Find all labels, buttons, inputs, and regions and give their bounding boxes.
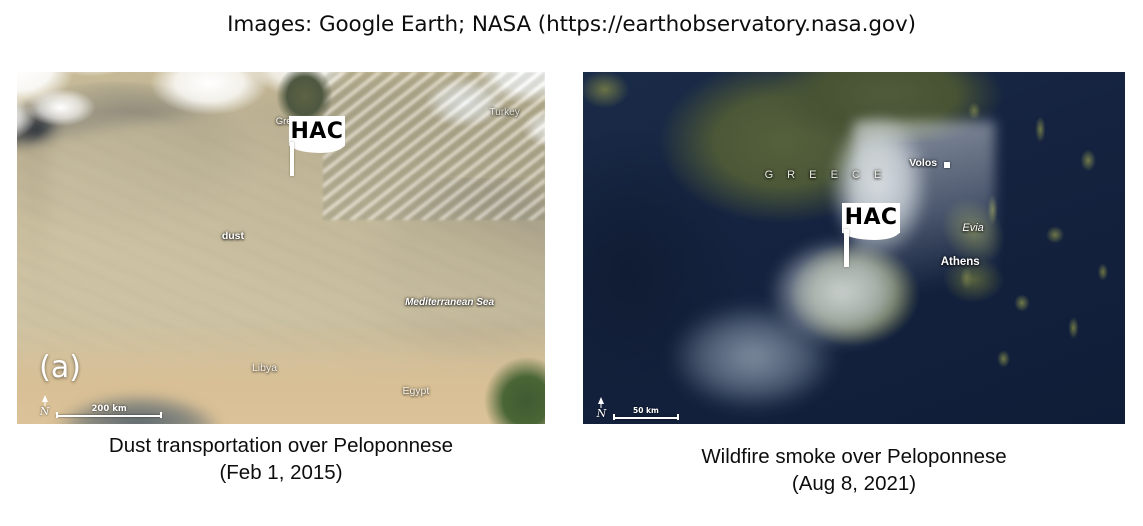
caption-dust-line1: Dust transportation over Peloponnese (17, 432, 545, 459)
smoke-plume-southwest (648, 276, 886, 424)
north-arrow-letter: N (595, 408, 608, 419)
scalebar: 50 km (613, 407, 679, 418)
scalebar-rule (56, 415, 162, 417)
scalebar: 200 km (56, 405, 162, 417)
satellite-image-wildfire-smoke: G R E E C E Volos Evia Athens HAC N 50 k… (583, 72, 1125, 424)
panel-letter-label: (a) (39, 350, 81, 385)
scalebar-distance-label: 200 km (56, 405, 162, 414)
caption-dust: Dust transportation over Peloponnese (Fe… (17, 432, 545, 486)
northwest-island (583, 72, 637, 114)
north-arrow-letter: N (38, 406, 51, 417)
hac-station-marker: HAC (842, 203, 900, 233)
hac-flag-pole (290, 142, 294, 176)
satellite-image-dust: Greece Turkey dust Mediterranean Sea Lib… (17, 72, 545, 424)
hac-flag-label: HAC (842, 203, 900, 233)
volos-city-marker (944, 162, 950, 168)
figure-panel-dust: Greece Turkey dust Mediterranean Sea Lib… (17, 72, 545, 424)
caption-wildfire-line1: Wildfire smoke over Peloponnese (583, 443, 1125, 470)
caption-wildfire: Wildfire smoke over Peloponnese (Aug 8, … (583, 443, 1125, 497)
scalebar-group-dust: N 200 km (38, 395, 162, 417)
caption-wildfire-line2: (Aug 8, 2021) (583, 470, 1125, 497)
hac-flag-label: HAC (289, 116, 345, 146)
scalebar-group-wildfire: N 50 km (595, 397, 679, 419)
greece-landmass (270, 72, 339, 121)
nile-delta-vegetation (471, 347, 545, 424)
image-credit-line: Images: Google Earth; NASA (https://eart… (0, 12, 1143, 37)
hac-flag-pole (844, 229, 849, 267)
hac-station-marker: HAC (289, 116, 345, 146)
scalebar-rule (613, 417, 679, 419)
north-arrow-icon: N (38, 395, 51, 417)
caption-dust-line2: (Feb 1, 2015) (17, 459, 545, 486)
figure-panel-wildfire: G R E E C E Volos Evia Athens HAC N 50 k… (583, 72, 1125, 424)
snow-covered-mountains (323, 72, 545, 220)
scalebar-distance-label: 50 km (613, 407, 679, 415)
north-arrow-icon: N (595, 397, 608, 419)
